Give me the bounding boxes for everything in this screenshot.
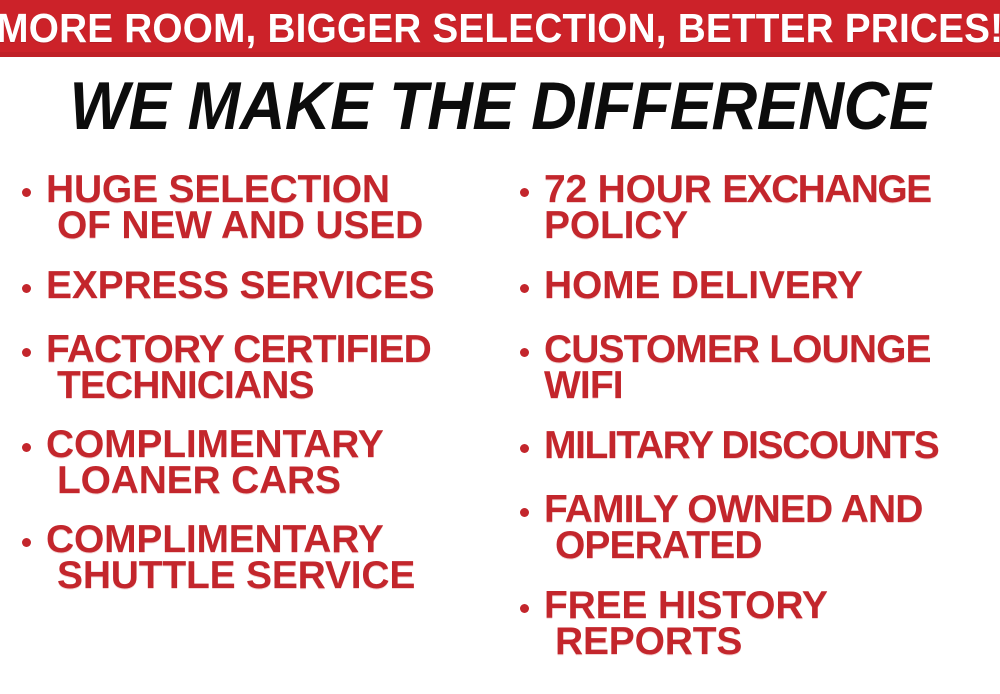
top-banner: MORE ROOM, BIGGER SELECTION, BETTER PRIC…	[0, 0, 1000, 57]
list-item-text: FAMILY OWNED AND OPERATED	[544, 492, 923, 564]
bullet-dot-icon	[22, 284, 31, 293]
list-item-text: HOME DELIVERY	[544, 268, 863, 304]
bullet-dot-icon	[520, 604, 529, 613]
list-item: FAMILY OWNED AND OPERATED	[520, 492, 923, 564]
list-item-line: COMPLIMENTARY	[46, 522, 415, 558]
list-item: FREE HISTORY REPORTS	[520, 588, 828, 660]
list-item: COMPLIMENTARY LOANER CARS	[22, 427, 384, 499]
list-item-line: POLICY	[544, 208, 931, 244]
bullet-dot-icon	[22, 188, 31, 197]
list-item-line: MILITARY DISCOUNTS	[544, 428, 938, 464]
bullet-dot-icon	[520, 348, 529, 357]
list-item-text: HUGE SELECTION OF NEW AND USED	[46, 172, 423, 244]
list-item-line: FACTORY CERTIFIED	[46, 332, 431, 368]
list-item: 72 HOUR EXCHANGE POLICY	[520, 172, 931, 244]
list-item-text: 72 HOUR EXCHANGE POLICY	[544, 172, 931, 244]
bullet-dot-icon	[22, 348, 31, 357]
list-item-line: EXPRESS SERVICES	[46, 268, 434, 304]
bullet-dot-icon	[22, 538, 31, 547]
banner-bottom-shade	[0, 52, 1000, 57]
list-item: EXPRESS SERVICES	[22, 268, 434, 304]
list-item-line: TECHNICIANS	[46, 368, 431, 404]
list-item-line: LOANER CARS	[46, 463, 384, 499]
list-item-line: FAMILY OWNED AND	[544, 492, 923, 528]
list-item-text: CUSTOMER LOUNGE WIFI	[544, 332, 931, 404]
list-item-line: CUSTOMER LOUNGE	[544, 332, 931, 368]
bullet-dot-icon	[520, 284, 529, 293]
bullet-dot-icon	[520, 188, 529, 197]
list-item-line: COMPLIMENTARY	[46, 427, 384, 463]
list-item-text: COMPLIMENTARY LOANER CARS	[46, 427, 384, 499]
list-item-text: FREE HISTORY REPORTS	[544, 588, 828, 660]
list-item-line: SHUTTLE SERVICE	[46, 558, 415, 594]
list-item-line: HUGE SELECTION	[46, 172, 423, 208]
list-item-segment: EXCHANGE	[722, 168, 930, 211]
bullet-dot-icon	[22, 443, 31, 452]
list-item: MILITARY DISCOUNTS	[520, 428, 938, 464]
list-item-text: MILITARY DISCOUNTS	[544, 428, 938, 464]
list-item: COMPLIMENTARY SHUTTLE SERVICE	[22, 522, 415, 594]
list-item-line: 72 HOUR EXCHANGE	[544, 172, 931, 208]
list-item-line: OF NEW AND USED	[46, 208, 423, 244]
list-item: CUSTOMER LOUNGE WIFI	[520, 332, 931, 404]
list-item-line: WIFI	[544, 368, 931, 404]
list-item-line: FREE HISTORY	[544, 588, 828, 624]
list-item: HOME DELIVERY	[520, 268, 863, 304]
banner-headline-text: MORE ROOM, BIGGER SELECTION, BETTER PRIC…	[0, 8, 1000, 49]
page-title: WE MAKE THE DIFFERENCE	[35, 72, 965, 140]
list-item-line: REPORTS	[544, 624, 828, 660]
promo-poster: MORE ROOM, BIGGER SELECTION, BETTER PRIC…	[0, 0, 1000, 694]
list-item-text: COMPLIMENTARY SHUTTLE SERVICE	[46, 522, 415, 594]
list-item-text: EXPRESS SERVICES	[46, 268, 434, 304]
list-item: FACTORY CERTIFIED TECHNICIANS	[22, 332, 431, 404]
bullet-dot-icon	[520, 508, 529, 517]
list-item: HUGE SELECTION OF NEW AND USED	[22, 172, 423, 244]
list-item-text: FACTORY CERTIFIED TECHNICIANS	[46, 332, 431, 404]
list-item-line: HOME DELIVERY	[544, 268, 863, 304]
bullet-dot-icon	[520, 444, 529, 453]
list-item-line: OPERATED	[544, 528, 923, 564]
